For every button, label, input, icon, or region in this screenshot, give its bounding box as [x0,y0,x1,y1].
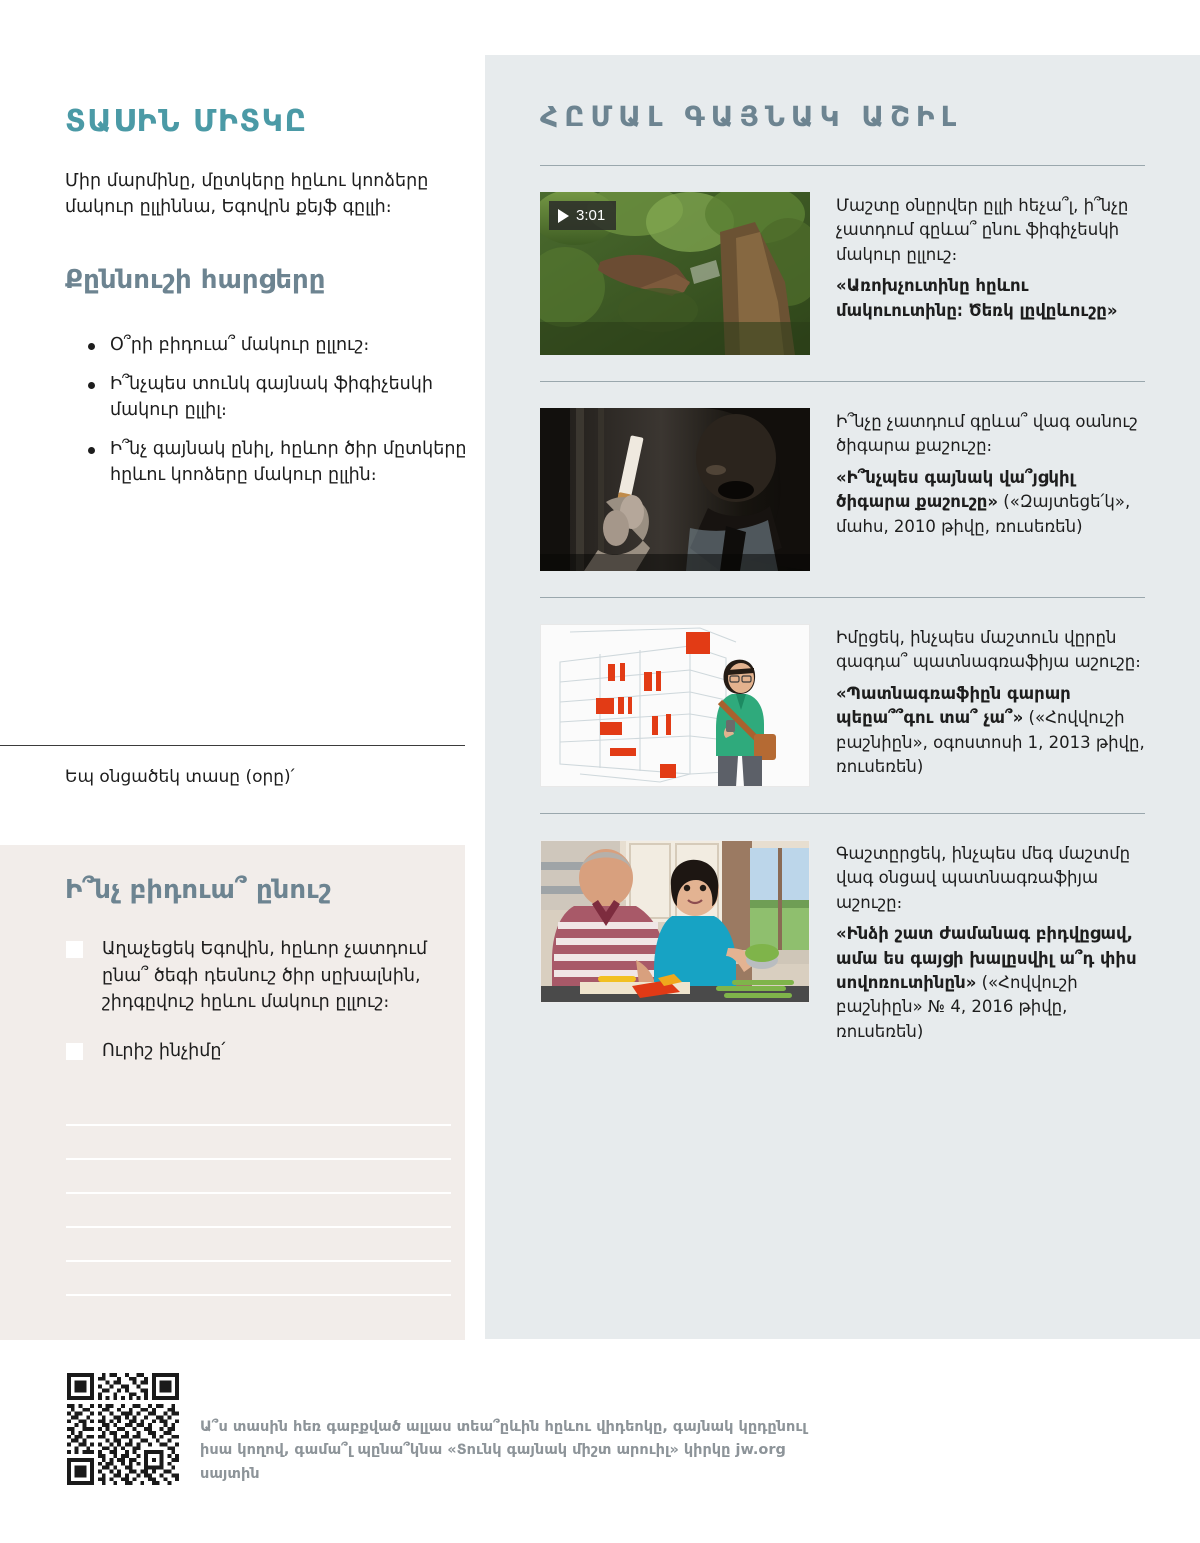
worksheet-page: ՏԱՍԻՆ ՄԻՏԿԸ Միր մարմինը, մըտկերը հըևու կ… [0,0,1200,1543]
man-holding-cigarette-photo[interactable] [540,408,810,571]
checklist-text: Ուրիշ ինչիմը՛ [102,1041,226,1061]
writing-line[interactable] [66,1158,451,1160]
man-in-library-illustration[interactable] [540,624,810,787]
bullet-text: Ի՞նչ գայնակ ընիլ, հըևոր ծիր մըտկերը հըևո… [110,439,467,486]
media-section-heading: ՀԸՄԱԼ ԳԱՅՆԱԿ ԱՇԻԼ [540,100,1145,133]
goals-heading: Ի՞նչ բիդուա՞ ընուշ [65,875,331,905]
media-intro: Ի՞նչը չատդում գըևա՞ վագ օանուշ ծիգարա քա… [836,410,1145,459]
list-item[interactable]: Աղաչեցեկ Եգովին, հըևոր չատդում ընա՞ ծեգի… [66,936,451,1016]
list-item: Օ՞րի բիդուա՞ մակուր ըլլուշ։ [88,332,468,359]
page-title: ՏԱՍԻՆ ՄԻՏԿԸ [65,104,308,139]
writing-line[interactable] [66,1260,451,1262]
left-column: ՏԱՍԻՆ ՄԻՏԿԸ Միր մարմինը, մըտկերը հըևու կ… [0,0,485,1340]
checkbox[interactable] [66,941,83,958]
checklist-text: Աղաչեցեկ Եգովին, հըևոր չատդում ընա՞ ծեգի… [102,939,427,1012]
media-row[interactable]: Ի՞նչը չատդում գըևա՞ վագ օանուշ ծիգարա քա… [540,381,1145,597]
section-divider [0,745,465,746]
video-duration-text: 3:01 [576,208,605,223]
review-questions-heading: Քըննուշի հարցերը [65,265,325,295]
writing-line[interactable] [66,1226,451,1228]
bullet-text: Ի՞նչպես տունկ գայնակ ֆիգիչեսկի մակուր ըլ… [110,374,433,421]
media-title: «Առոխչուտինը հըևու մակուուտինը։ Ծեռկ լըվ… [836,276,1118,319]
goals-checklist: Աղաչեցեկ Եգովին, հըևոր չատդում ընա՞ ծեգի… [66,936,451,1086]
media-intro: Մաշտը օնըրվեր ըլլի հեչա՞լ, ի՞նչը չատդում… [836,194,1145,267]
media-text: Մաշտը օնըրվեր ըլլի հեչա՞լ, ի՞նչը չատդում… [836,192,1145,355]
list-item: Ի՞նչ գայնակ ընիլ, հըևոր ծիր մըտկերը հըևո… [88,436,468,489]
media-text: Ի՞նչը չատդում գըևա՞ վագ օանուշ ծիգարա քա… [836,408,1145,571]
qr-code[interactable] [67,1373,179,1485]
media-text: Իմըցեկ, ինչպես մաշտուն վըրըն գագդա՞ պատն… [836,624,1145,787]
writing-line[interactable] [66,1124,451,1126]
video-duration-badge[interactable]: 3:01 [549,201,616,230]
hand-washing-under-tap-photo[interactable]: 3:01 [540,192,810,355]
bullet-text: Օ՞րի բիդուա՞ մակուր ըլլուշ։ [110,335,369,355]
media-row[interactable]: Իմըցեկ, ինչպես մաշտուն վըրըն գագդա՞ պատն… [540,597,1145,813]
right-column: ՀԸՄԱԼ ԳԱՅՆԱԿ ԱՇԻԼ [485,55,1200,1339]
couple-cooking-in-kitchen-photo[interactable] [540,840,810,1003]
media-text: Գաշտըրցեկ, ինչպես մեգ մաշտմը վագ օնցավ պ… [836,840,1145,1044]
checkbox[interactable] [66,1043,83,1060]
date-field-label: Եպ օնցածեկ տասը (օրը)՛ [65,767,295,787]
footer: Ա՞ս տասին հեռ գաբքված ալլաս տեա՞ըևին հըև… [0,1368,1200,1543]
footer-text: Ա՞ս տասին հեռ գաբքված ալլաս տեա՞ըևին հըև… [200,1416,820,1486]
writing-line[interactable] [66,1192,451,1194]
play-icon [558,209,569,223]
media-intro: Գաշտըրցեկ, ինչպես մեգ մաշտմը վագ օնցավ պ… [836,842,1145,915]
media-row[interactable]: Գաշտըրցեկ, ինչպես մեգ մաշտմը վագ օնցավ պ… [540,813,1145,1070]
review-questions-list: Օ՞րի բիդուա՞ մակուր ըլլուշ։ Ի՞նչպես տուն… [88,332,468,501]
writing-line[interactable] [66,1294,451,1296]
media-row[interactable]: 3:01 Մաշտը օնըրվեր ըլլի հեչա՞լ, ի՞նչը չա… [540,165,1145,381]
list-item: Ի՞նչպես տունկ գայնակ ֆիգիչեսկի մակուր ըլ… [88,371,468,424]
writing-lines[interactable] [66,1124,451,1328]
intro-paragraph: Միր մարմինը, մըտկերը հըևու կոոձերը մակու… [65,168,465,221]
list-item[interactable]: Ուրիշ ինչիմը՛ [66,1038,451,1065]
media-intro: Իմըցեկ, ինչպես մաշտուն վըրըն գագդա՞ պատն… [836,626,1145,675]
